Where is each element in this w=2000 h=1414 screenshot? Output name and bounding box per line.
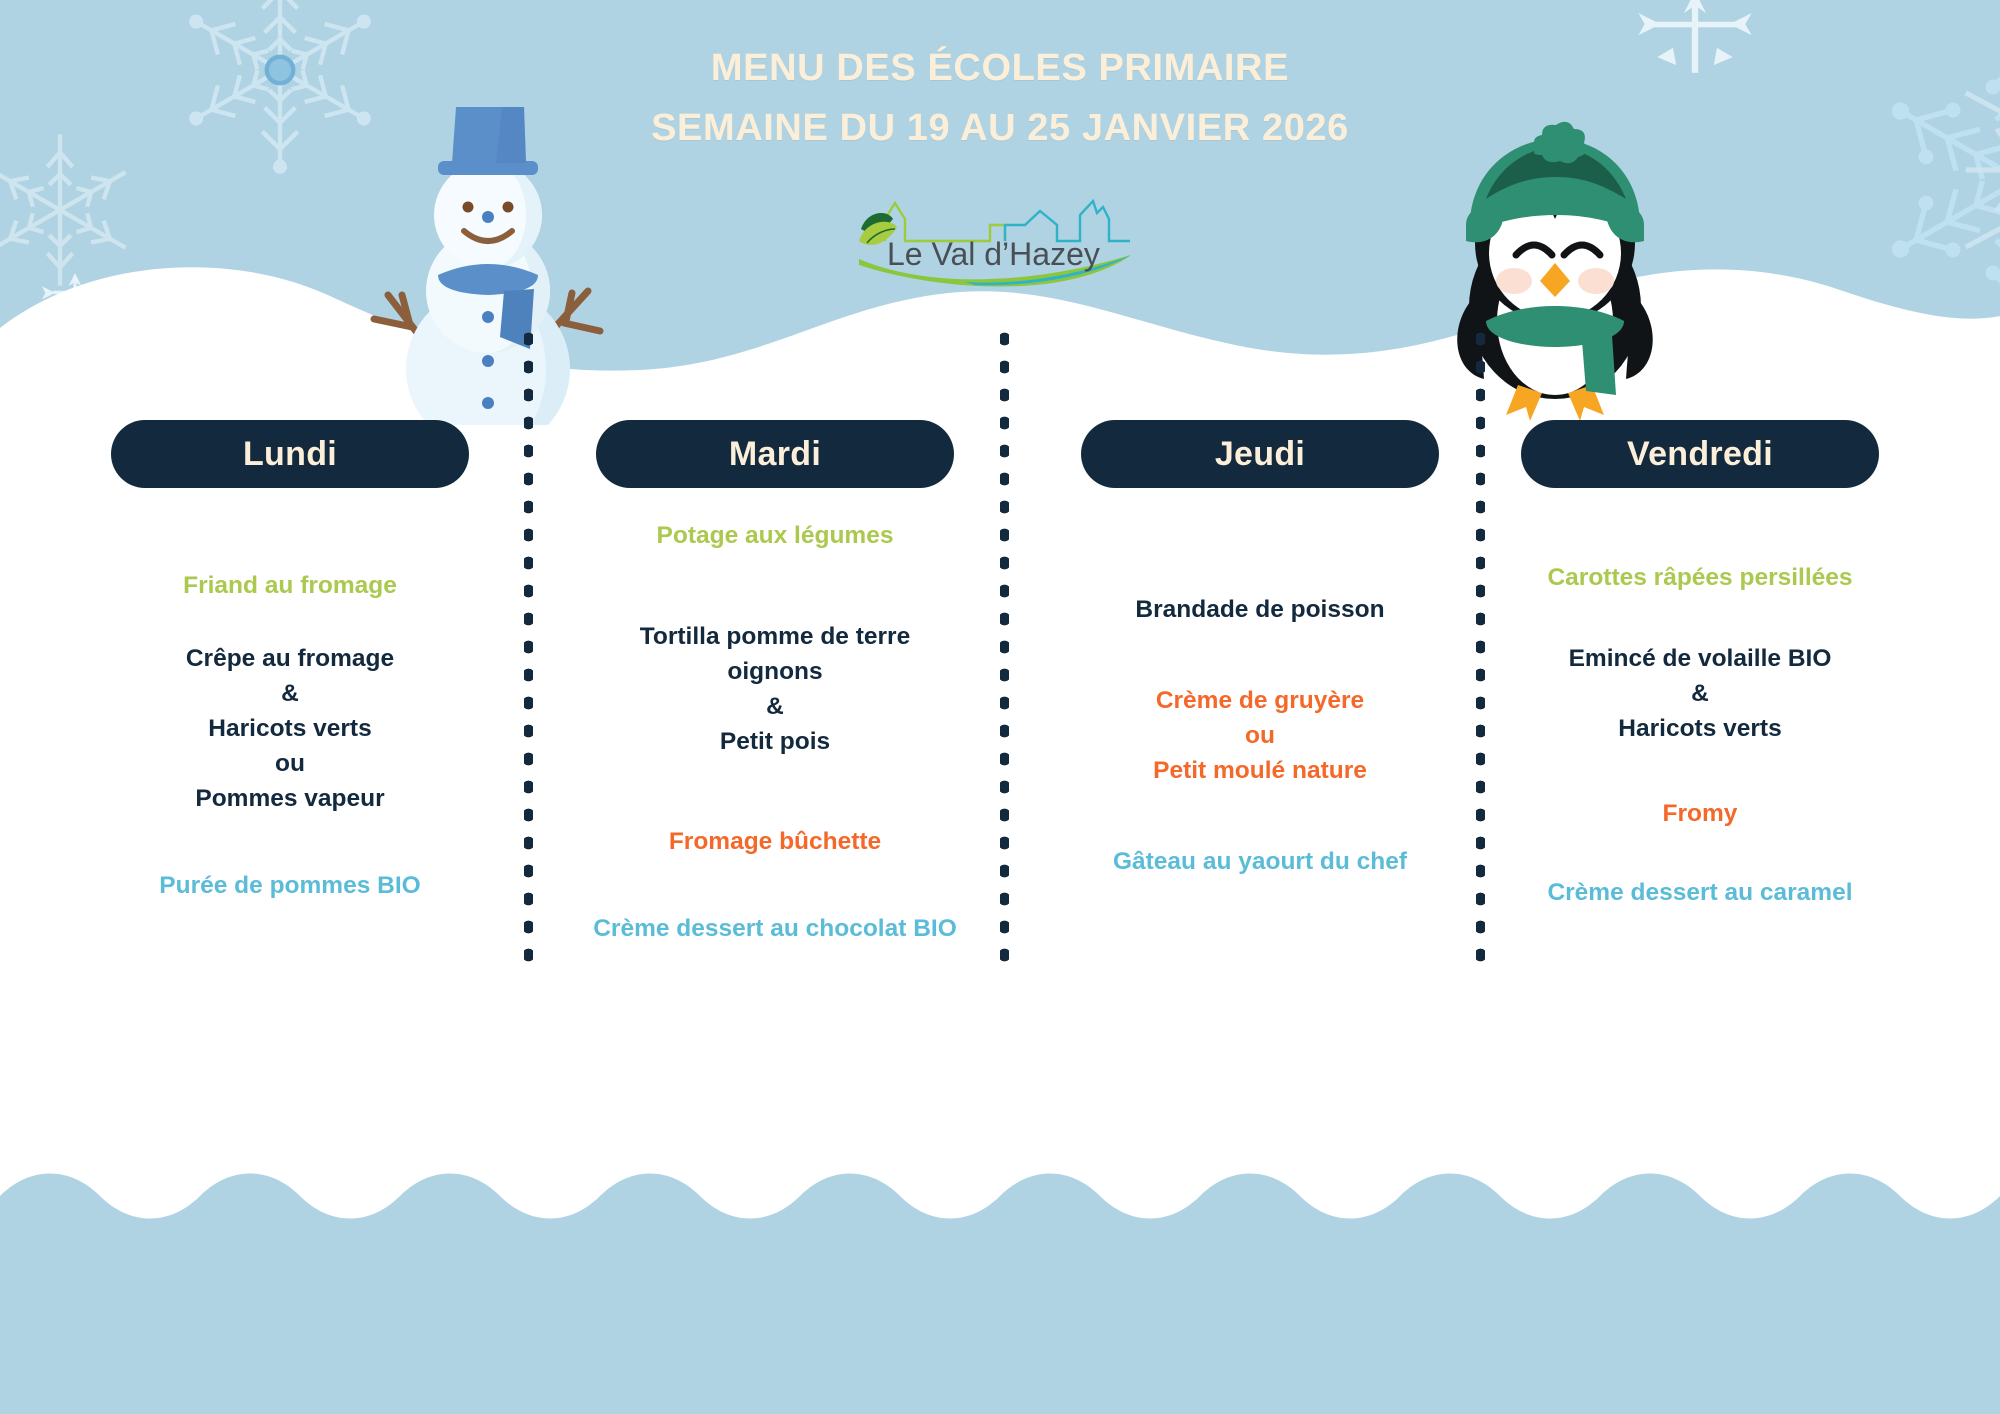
menu-items-vendredi: Carottes râpées persilléesEmincé de vola…: [1480, 488, 1920, 1188]
day-header-vendredi[interactable]: Vendredi: [1521, 420, 1879, 488]
menu-item: Potage aux légumes: [535, 518, 1015, 553]
menu-item: Pommes vapeur: [50, 781, 530, 816]
menu-item: ou: [50, 746, 530, 781]
menu-item: Crème dessert au caramel: [1460, 875, 1940, 910]
menu-item: Crème dessert au chocolat BIO: [535, 911, 1015, 946]
menu-item: Fromy: [1460, 796, 1940, 831]
menu-item: Purée de pommes BIO: [50, 868, 530, 903]
day-column-mardi: Mardi Potage aux légumesTortilla pomme d…: [555, 420, 995, 1188]
menu-item: Crème de gruyère: [1020, 683, 1500, 718]
day-column-vendredi: Vendredi Carottes râpées persilléesEminc…: [1480, 420, 1920, 1188]
menu-item: Friand au fromage: [50, 568, 530, 603]
menu-item: Gâteau au yaourt du chef: [1020, 844, 1500, 879]
menu-item: Emincé de volaille BIO: [1460, 641, 1940, 676]
menu-item: Crêpe au fromage: [50, 641, 530, 676]
day-header-mardi[interactable]: Mardi: [596, 420, 954, 488]
val-d-hazey-logo-icon: Le Val d’Hazey: [845, 185, 1135, 290]
day-column-lundi: Lundi Friand au fromageCrêpe au fromage&…: [70, 420, 510, 1188]
menu-item: Haricots verts: [50, 711, 530, 746]
menu-item: Petit moulé nature: [1020, 753, 1500, 788]
menu-item: Petit pois: [535, 724, 1015, 759]
menu-items-mardi: Potage aux légumesTortilla pomme de terr…: [555, 488, 995, 1188]
menu-item: &: [1460, 676, 1940, 711]
menu-poster: MENU DES ÉCOLES PRIMAIRE SEMAINE DU 19 A…: [0, 0, 2000, 1414]
menu-item: oignons: [535, 654, 1015, 689]
menu-item: Tortilla pomme de terre: [535, 619, 1015, 654]
menu-item: ou: [1020, 718, 1500, 753]
menu-item: &: [50, 676, 530, 711]
menu-item: Brandade de poisson: [1020, 592, 1500, 627]
menu-columns: Lundi Friand au fromageCrêpe au fromage&…: [0, 420, 2000, 1220]
day-header-lundi[interactable]: Lundi: [111, 420, 469, 488]
menu-items-jeudi: Brandade de poissonCrème de gruyèreouPet…: [1040, 488, 1480, 1188]
svg-text:Le Val d’Hazey: Le Val d’Hazey: [887, 236, 1100, 272]
title-line-1: MENU DES ÉCOLES PRIMAIRE: [0, 38, 2000, 98]
menu-item: Haricots verts: [1460, 711, 1940, 746]
menu-item: &: [535, 689, 1015, 724]
poster-title: MENU DES ÉCOLES PRIMAIRE SEMAINE DU 19 A…: [0, 38, 2000, 158]
day-column-jeudi: Jeudi Brandade de poissonCrème de gruyèr…: [1040, 420, 1480, 1188]
title-line-2: SEMAINE DU 19 AU 25 JANVIER 2026: [0, 98, 2000, 158]
menu-item: Carottes râpées persillées: [1460, 560, 1940, 595]
menu-items-lundi: Friand au fromageCrêpe au fromage&Harico…: [70, 488, 510, 1188]
menu-item: Fromage bûchette: [535, 824, 1015, 859]
day-header-jeudi[interactable]: Jeudi: [1081, 420, 1439, 488]
